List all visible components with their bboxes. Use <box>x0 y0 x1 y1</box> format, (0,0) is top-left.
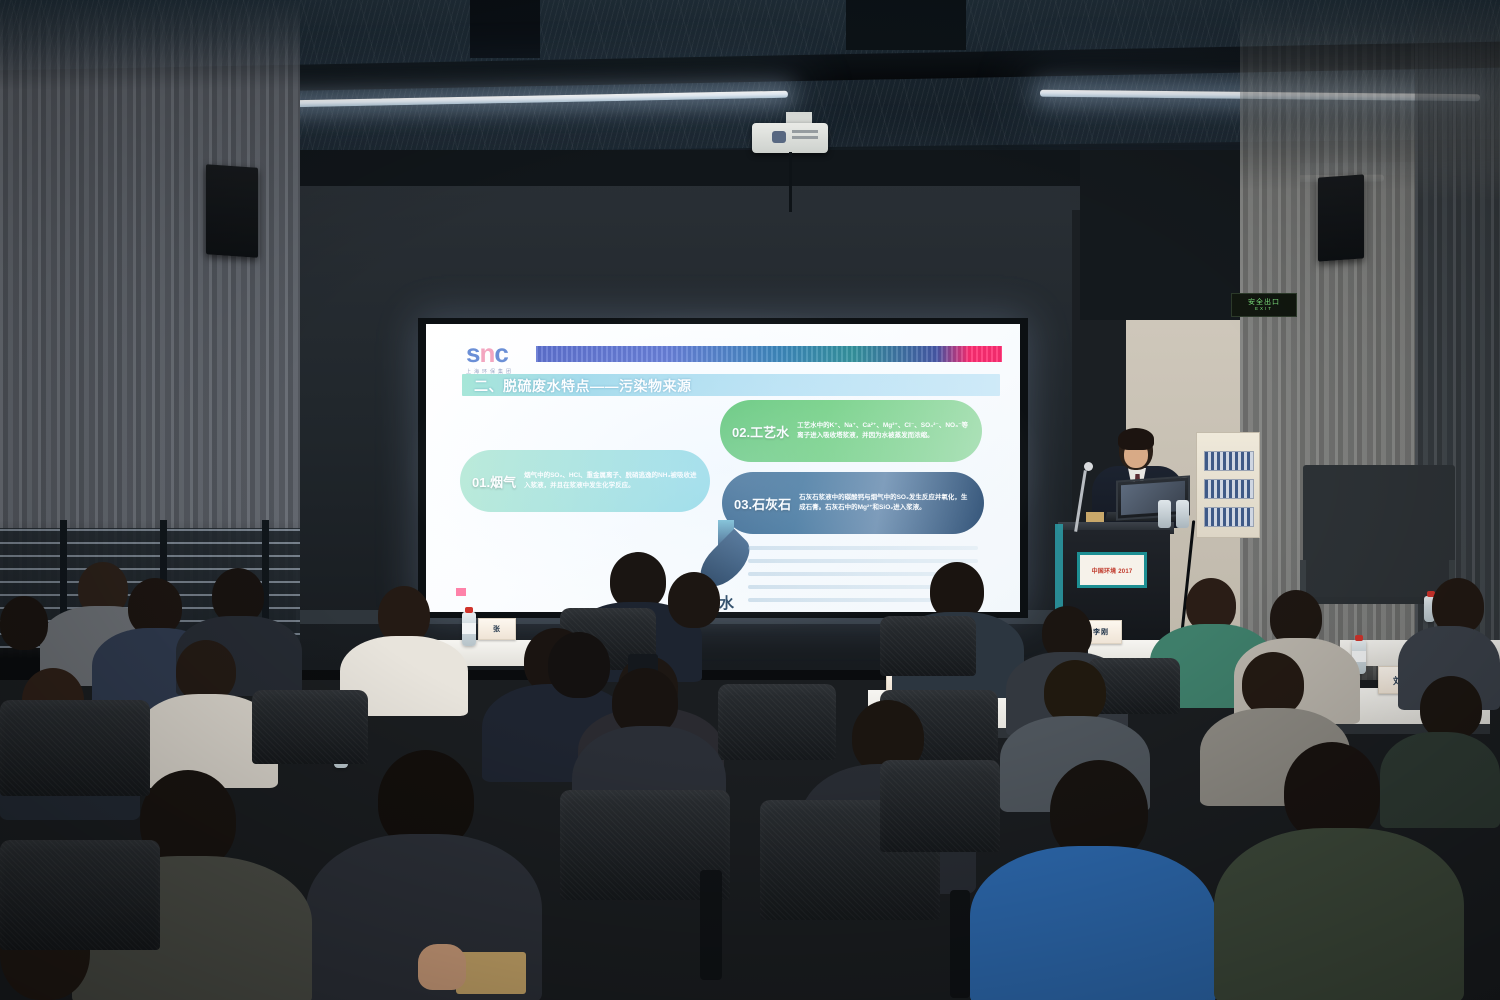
slide-top-bar-texture <box>536 346 1002 362</box>
chair-arm-2 <box>950 890 970 998</box>
audience-head-n4 <box>548 632 610 698</box>
chair-n5[interactable] <box>880 760 1000 852</box>
wall-speaker-right <box>1318 174 1364 261</box>
name-card-3-text: 张 <box>493 624 501 634</box>
projector-vent-2 <box>792 136 818 139</box>
chair-arm-1 <box>700 870 722 980</box>
bubble-01-body: 烟气中的SO₂、HCl、重金属离子、脱硝逃逸的NH₃被吸收进入浆液，并且在浆液中… <box>524 471 698 491</box>
projector-icon <box>752 123 828 153</box>
slide-bubble-02: 02.工艺水 工艺水中的K⁺、Na⁺、Ca²⁺、Mg²⁺、Cl⁻、SO₄²⁻、N… <box>720 400 982 462</box>
water-bottle-icon-1 <box>462 612 476 646</box>
slide-logo: snc 上海环保集团 <box>466 340 530 375</box>
podium-bottle-1 <box>1158 500 1171 528</box>
projector-pole <box>789 152 792 212</box>
exit-sign-english: EXIT <box>1255 307 1273 312</box>
bubble-03-body: 石灰石浆液中的碳酸钙与烟气中的SO₂发生反应并氧化，生成石膏。石灰石中的Mg²⁺… <box>799 493 972 513</box>
bubble-02-body: 工艺水中的K⁺、Na⁺、Ca²⁺、Mg²⁺、Cl⁻、SO₄²⁻、NO₃⁻等离子进… <box>797 421 970 441</box>
audience-torso-n7 <box>1214 828 1464 1000</box>
text-line-2 <box>748 559 978 563</box>
name-card-2-text: 李刚 <box>1093 627 1109 637</box>
bubble-03-number: 03.石灰石 <box>734 494 791 513</box>
microphone-icon <box>1084 462 1093 471</box>
chair-m5[interactable] <box>718 684 836 760</box>
audience-head-m5 <box>1044 660 1106 724</box>
chair-n1[interactable] <box>0 700 150 796</box>
audience-head-m1 <box>176 640 236 702</box>
microphone-base <box>1086 512 1104 522</box>
text-line-1 <box>748 546 978 550</box>
bubble-01-number: 01.烟气 <box>472 472 516 491</box>
presenter-hair <box>1118 428 1154 450</box>
audience-head-n7 <box>1284 742 1380 842</box>
slide-bubble-03: 03.石灰石 石灰石浆液中的碳酸钙与烟气中的SO₂发生反应并氧化，生成石膏。石灰… <box>722 472 984 534</box>
bottle-label-1 <box>462 623 476 634</box>
audience-head-f7 <box>668 572 720 628</box>
bottle-cap-1 <box>465 607 473 613</box>
projector-vent-1 <box>792 130 818 133</box>
breaker-row-1 <box>1204 451 1254 471</box>
electrical-panel <box>1196 432 1260 538</box>
audience-head-f4 <box>0 596 48 650</box>
slide-bubble-01: 01.烟气 烟气中的SO₂、HCl、重金属离子、脱硝逃逸的NH₃被吸收进入浆液，… <box>460 450 710 512</box>
presentation-slide: snc 上海环保集团 二、脱硫废水特点——污染物来源 01.烟气 烟气中的SO₂… <box>426 324 1020 612</box>
projection-screen: snc 上海环保集团 二、脱硫废水特点——污染物来源 01.烟气 烟气中的SO₂… <box>426 324 1020 612</box>
exit-sign-icon: 安全出口 EXIT <box>1231 293 1297 317</box>
name-card-3: 张 <box>478 618 516 640</box>
audience-hand <box>418 944 466 990</box>
slide-corner-accent <box>456 588 466 596</box>
podium-bottle-2 <box>1176 500 1189 528</box>
audience-head-m7 <box>1420 676 1482 740</box>
breaker-row-3 <box>1204 507 1254 527</box>
audience-torso-m7 <box>1380 732 1500 828</box>
wall-speaker-left <box>206 164 258 258</box>
podium-banner-text: 中国环境 2017 <box>1092 566 1133 575</box>
ceiling-slot-a <box>470 0 540 58</box>
ceiling-slot-b <box>846 0 966 50</box>
chair-n4[interactable] <box>0 840 160 950</box>
podium-banner: 中国环境 2017 <box>1077 552 1147 588</box>
audience-torso-n6 <box>970 846 1216 1000</box>
chair-m4[interactable] <box>252 690 368 764</box>
logo-text: snc <box>466 340 530 366</box>
audience-head-m6 <box>1242 652 1304 716</box>
slide-title: 二、脱硫废水特点——污染物来源 <box>474 376 692 396</box>
breaker-row-2 <box>1204 479 1254 499</box>
exit-sign-chinese: 安全出口 <box>1248 299 1280 306</box>
projector-lens <box>772 131 786 143</box>
whiteboard <box>1303 465 1455 598</box>
bottle-cap-3 <box>1355 635 1363 641</box>
notebook-icon <box>456 952 526 994</box>
chair-m2[interactable] <box>880 616 976 676</box>
conference-room-photo: 安全出口 EXIT snc 上海环保集团 二、脱硫废水特点——污染物来源 01.… <box>0 0 1500 1000</box>
bubble-02-number: 02.工艺水 <box>732 422 789 441</box>
